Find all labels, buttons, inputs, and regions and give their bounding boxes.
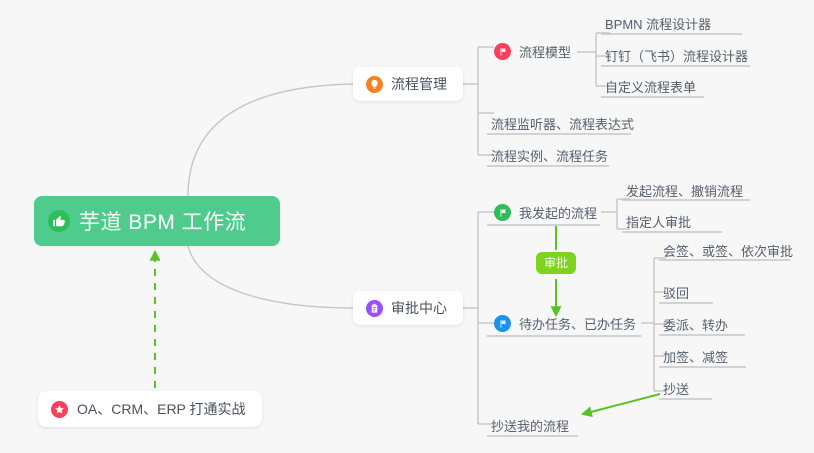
star-icon bbox=[51, 401, 68, 418]
leaf-delegate-transfer[interactable]: 委派、转办 bbox=[659, 315, 732, 339]
leaf-label-todo-done-tasks: 待办任务、已办任务 bbox=[519, 314, 636, 333]
leaf-bpmn-designer[interactable]: BPMN 流程设计器 bbox=[601, 14, 715, 38]
leaf-label-countersign: 会签、或签、依次审批 bbox=[663, 241, 793, 260]
leaf-assignee-approve[interactable]: 指定人审批 bbox=[622, 212, 695, 236]
leaf-label-custom-form: 自定义流程表单 bbox=[605, 77, 696, 96]
leaf-process-model[interactable]: 流程模型 bbox=[490, 42, 575, 66]
leaf-add-remove-sign[interactable]: 加签、减签 bbox=[659, 347, 732, 371]
leaf-label-cc-to-me: 抄送我的流程 bbox=[491, 416, 569, 435]
leaf-label-assignee-approve: 指定人审批 bbox=[626, 212, 691, 231]
leaf-label-delegate-transfer: 委派、转办 bbox=[663, 315, 728, 334]
flag-icon-green bbox=[494, 204, 511, 221]
leaf-reject[interactable]: 驳回 bbox=[659, 283, 693, 307]
leaf-custom-form[interactable]: 自定义流程表单 bbox=[601, 77, 700, 101]
leaf-label-bpmn-designer: BPMN 流程设计器 bbox=[605, 14, 711, 33]
root-node[interactable]: 芋道 BPM 工作流 bbox=[34, 196, 280, 246]
branch-node-approval-center[interactable]: 审批中心 bbox=[353, 291, 463, 325]
flag-icon-red bbox=[494, 43, 511, 60]
leaf-dingtalk-designer[interactable]: 钉钉（飞书）流程设计器 bbox=[601, 46, 752, 70]
branch-node-process-management[interactable]: 流程管理 bbox=[353, 67, 463, 101]
leaf-process-instance[interactable]: 流程实例、流程任务 bbox=[487, 146, 612, 170]
leaf-label-process-listener: 流程监听器、流程表达式 bbox=[491, 114, 634, 133]
branch-label-process-management: 流程管理 bbox=[391, 74, 447, 94]
clipboard-icon bbox=[366, 300, 383, 317]
callout-label: OA、CRM、ERP 打通实战 bbox=[77, 399, 246, 419]
leaf-label-process-model: 流程模型 bbox=[519, 42, 571, 61]
leaf-label-dingtalk-designer: 钉钉（飞书）流程设计器 bbox=[605, 46, 748, 65]
lightbulb-icon bbox=[366, 76, 383, 93]
leaf-countersign[interactable]: 会签、或签、依次审批 bbox=[659, 241, 797, 265]
callout-integration-box[interactable]: OA、CRM、ERP 打通实战 bbox=[38, 391, 262, 427]
approval-annotation-label: 审批 bbox=[544, 256, 568, 270]
leaf-label-my-started-processes: 我发起的流程 bbox=[519, 203, 597, 222]
root-label: 芋道 BPM 工作流 bbox=[79, 206, 246, 236]
leaf-todo-done-tasks[interactable]: 待办任务、已办任务 bbox=[490, 314, 640, 338]
leaf-cc-to-me[interactable]: 抄送我的流程 bbox=[487, 416, 573, 440]
leaf-my-started-processes[interactable]: 我发起的流程 bbox=[490, 203, 601, 227]
mindmap-canvas: 芋道 BPM 工作流 流程管理 流程模型 BPMN 流程设计器 钉钉（飞书）流程… bbox=[0, 0, 814, 453]
leaf-cc[interactable]: 抄送 bbox=[659, 379, 693, 403]
leaf-label-reject: 驳回 bbox=[663, 283, 689, 302]
arrow-cc-to-ccme bbox=[583, 394, 660, 414]
leaf-process-listener[interactable]: 流程监听器、流程表达式 bbox=[487, 114, 638, 138]
leaf-label-add-remove-sign: 加签、减签 bbox=[663, 347, 728, 366]
thumbs-up-icon bbox=[48, 210, 70, 232]
leaf-label-initiate-cancel: 发起流程、撤销流程 bbox=[626, 181, 743, 200]
approval-annotation-badge: 审批 bbox=[536, 252, 576, 274]
branch-label-approval-center: 审批中心 bbox=[391, 298, 447, 318]
link-root-to-approval-center bbox=[188, 246, 353, 308]
link-root-to-process-management bbox=[188, 84, 353, 196]
flag-icon-blue bbox=[494, 315, 511, 332]
leaf-label-process-instance: 流程实例、流程任务 bbox=[491, 146, 608, 165]
leaf-label-cc: 抄送 bbox=[663, 379, 689, 398]
leaf-initiate-cancel[interactable]: 发起流程、撤销流程 bbox=[622, 181, 747, 205]
